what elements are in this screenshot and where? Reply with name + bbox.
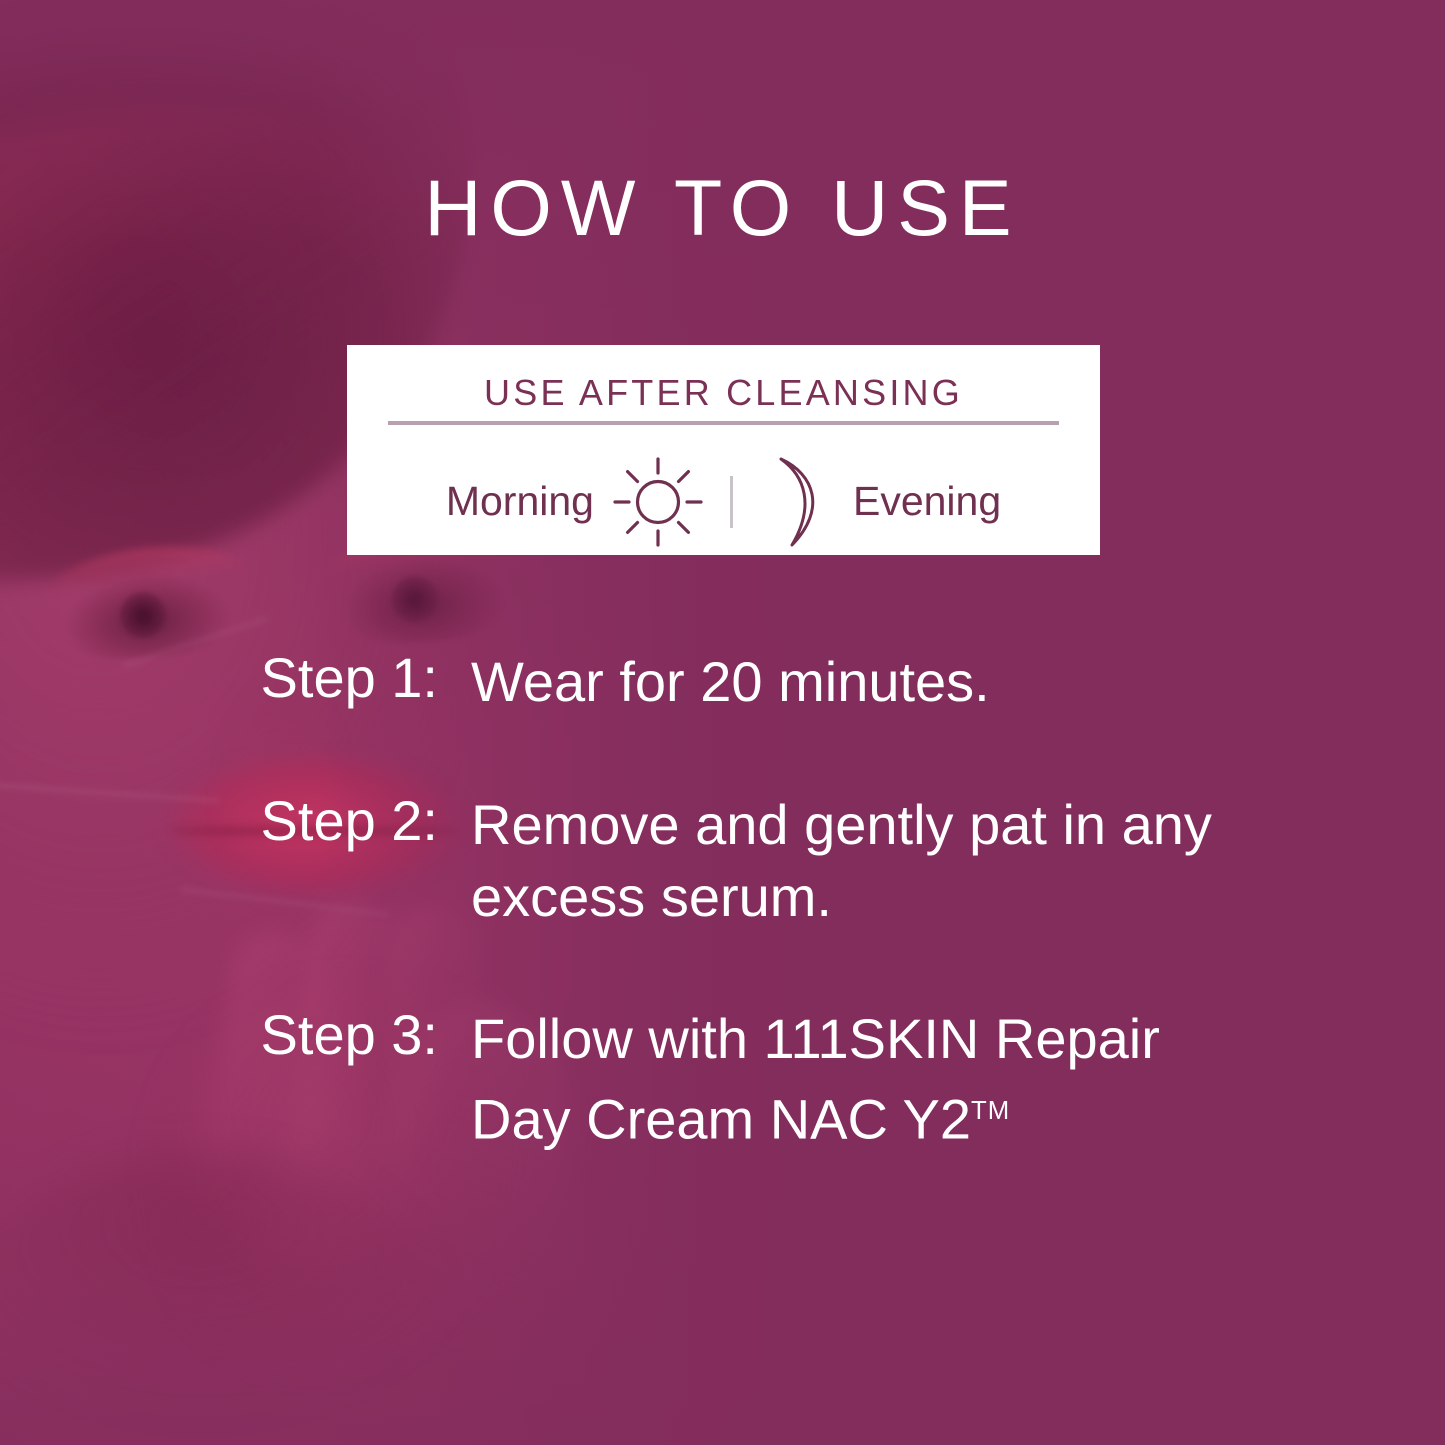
time-of-day-row: Morning bbox=[347, 448, 1100, 555]
step-text-body: Remove and gently pat in any excess seru… bbox=[471, 793, 1212, 928]
step-text: Wear for 20 minutes. bbox=[471, 646, 990, 718]
time-of-day-separator bbox=[730, 476, 733, 528]
step-label: Step 3: bbox=[228, 1003, 438, 1067]
evening-label: Evening bbox=[853, 481, 1001, 522]
card-heading: USE AFTER CLEANSING bbox=[347, 372, 1100, 414]
step-label: Step 2: bbox=[228, 789, 438, 853]
sun-icon bbox=[612, 456, 704, 548]
card-divider bbox=[388, 421, 1059, 425]
trademark-symbol: TM bbox=[971, 1097, 1010, 1125]
step-text: Follow with 111SKIN Repair Day Cream NAC… bbox=[471, 1003, 1231, 1156]
step-text-body: Wear for 20 minutes. bbox=[471, 650, 990, 713]
step-label: Step 1: bbox=[228, 646, 438, 710]
step-row: Step 2: Remove and gently pat in any exc… bbox=[228, 789, 1231, 933]
usage-info-card: USE AFTER CLEANSING Morning bbox=[347, 345, 1100, 555]
step-text: Remove and gently pat in any excess seru… bbox=[471, 789, 1231, 933]
step-row: Step 3: Follow with 111SKIN Repair Day C… bbox=[228, 1003, 1231, 1156]
how-to-use-graphic: HOW TO USE USE AFTER CLEANSING Morning bbox=[0, 0, 1445, 1445]
step-row: Step 1: Wear for 20 minutes. bbox=[228, 646, 990, 718]
morning-label: Morning bbox=[446, 481, 594, 522]
step-text-body: Follow with 111SKIN Repair Day Cream NAC… bbox=[471, 1007, 1160, 1151]
moon-icon bbox=[759, 454, 837, 550]
page-title: HOW TO USE bbox=[0, 168, 1445, 247]
